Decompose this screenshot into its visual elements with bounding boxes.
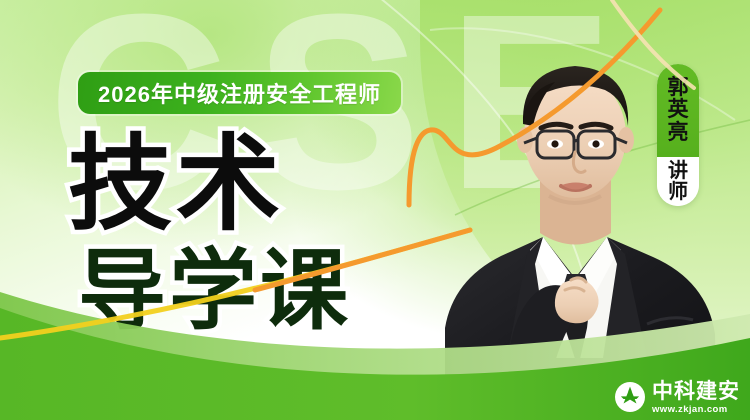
accent-swoosh-lines <box>0 0 750 420</box>
course-poster: CSE <box>0 0 750 420</box>
